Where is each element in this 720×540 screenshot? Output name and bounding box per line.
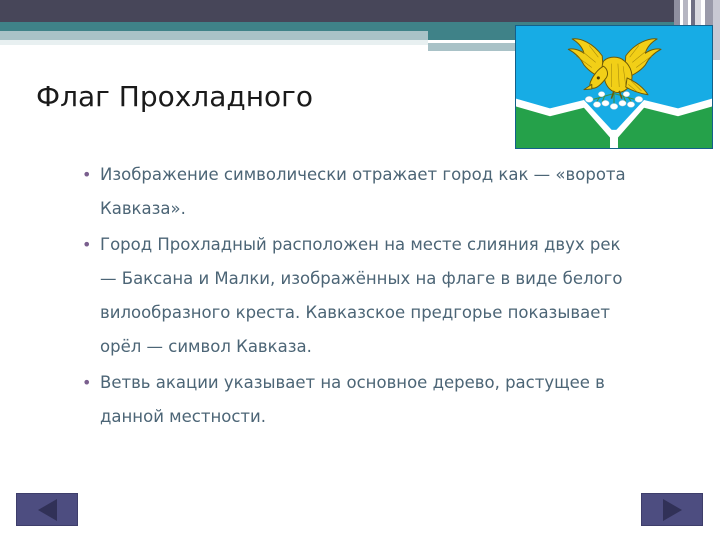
header-band-pale-left — [0, 40, 428, 45]
triangle-left-icon — [38, 499, 57, 521]
header-band-grayblue-left — [0, 31, 428, 40]
list-item-text: Ветвь акации указывает на основное дерев… — [100, 373, 605, 426]
bullet-icon: • — [82, 366, 91, 400]
list-item-text: Город Прохладный расположен на месте сли… — [100, 235, 622, 356]
next-slide-button[interactable] — [641, 493, 703, 526]
header-band-teal-left — [0, 22, 428, 31]
triangle-right-icon — [663, 499, 682, 521]
bullet-list: •Изображение символически отражает город… — [82, 158, 642, 436]
edge-stripe — [713, 0, 720, 60]
slide-canvas: Флаг Прохладного — [0, 0, 720, 540]
header-band-dark — [0, 0, 720, 22]
bullet-icon: • — [82, 228, 91, 262]
flag-image — [515, 25, 713, 149]
page-title: Флаг Прохладного — [36, 80, 496, 114]
list-item: •Изображение символически отражает город… — [82, 158, 642, 226]
list-item-text: Изображение символически отражает город … — [100, 165, 626, 218]
bullet-icon: • — [82, 158, 91, 192]
list-item: •Город Прохладный расположен на месте сл… — [82, 228, 642, 364]
previous-slide-button[interactable] — [16, 493, 78, 526]
list-item: •Ветвь акации указывает на основное дере… — [82, 366, 642, 434]
flag-of-prokhladny-icon — [516, 26, 712, 148]
